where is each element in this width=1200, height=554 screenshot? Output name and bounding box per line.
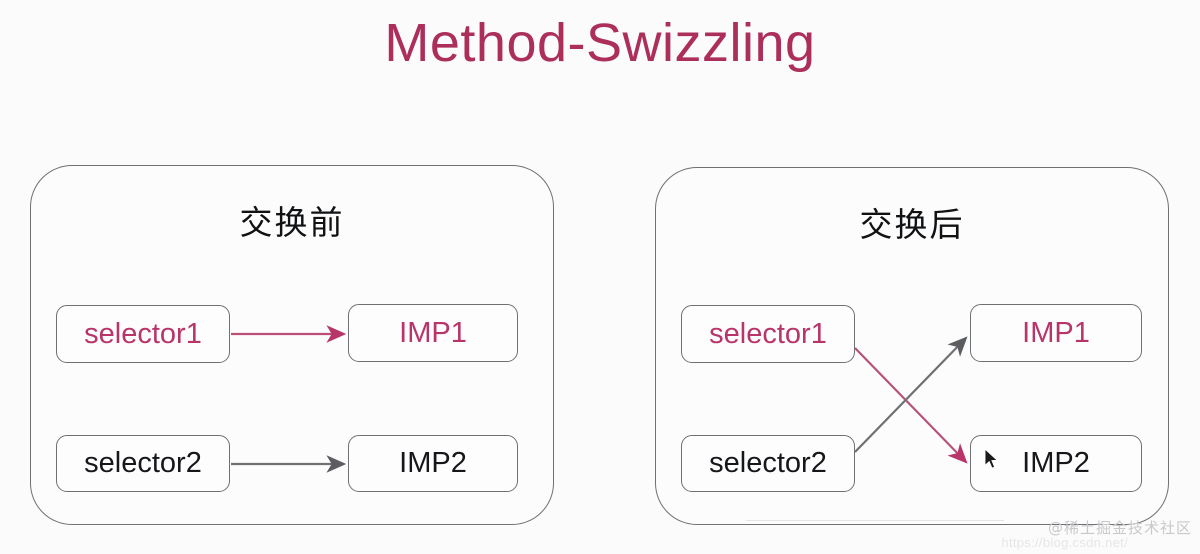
node-label: IMP1	[1022, 317, 1090, 350]
node-after-selector2[interactable]: selector2	[681, 435, 855, 492]
node-label: selector2	[709, 447, 827, 480]
watermark-rule	[746, 520, 1004, 521]
node-label: selector1	[84, 318, 202, 351]
node-after-selector1[interactable]: selector1	[681, 305, 855, 363]
node-before-imp2[interactable]: IMP2	[348, 435, 518, 492]
panel-before-title: 交换前	[31, 196, 553, 244]
node-label: IMP2	[1022, 447, 1090, 480]
node-label: selector2	[84, 447, 202, 480]
page-title: Method-Swizzling	[0, 12, 1200, 74]
node-label: selector1	[709, 318, 827, 351]
diagram-canvas: Method-Swizzling 交换前 selector1 IMP1 sele…	[0, 0, 1200, 554]
watermark-url: https://blog.csdn.net/	[1001, 535, 1128, 550]
node-label: IMP1	[399, 317, 467, 350]
node-after-imp1[interactable]: IMP1	[970, 304, 1142, 362]
node-before-selector1[interactable]: selector1	[56, 305, 230, 363]
panel-after-title: 交换后	[656, 198, 1168, 246]
node-after-imp2[interactable]: IMP2	[970, 435, 1142, 492]
node-before-selector2[interactable]: selector2	[56, 435, 230, 492]
node-label: IMP2	[399, 447, 467, 480]
node-before-imp1[interactable]: IMP1	[348, 304, 518, 362]
